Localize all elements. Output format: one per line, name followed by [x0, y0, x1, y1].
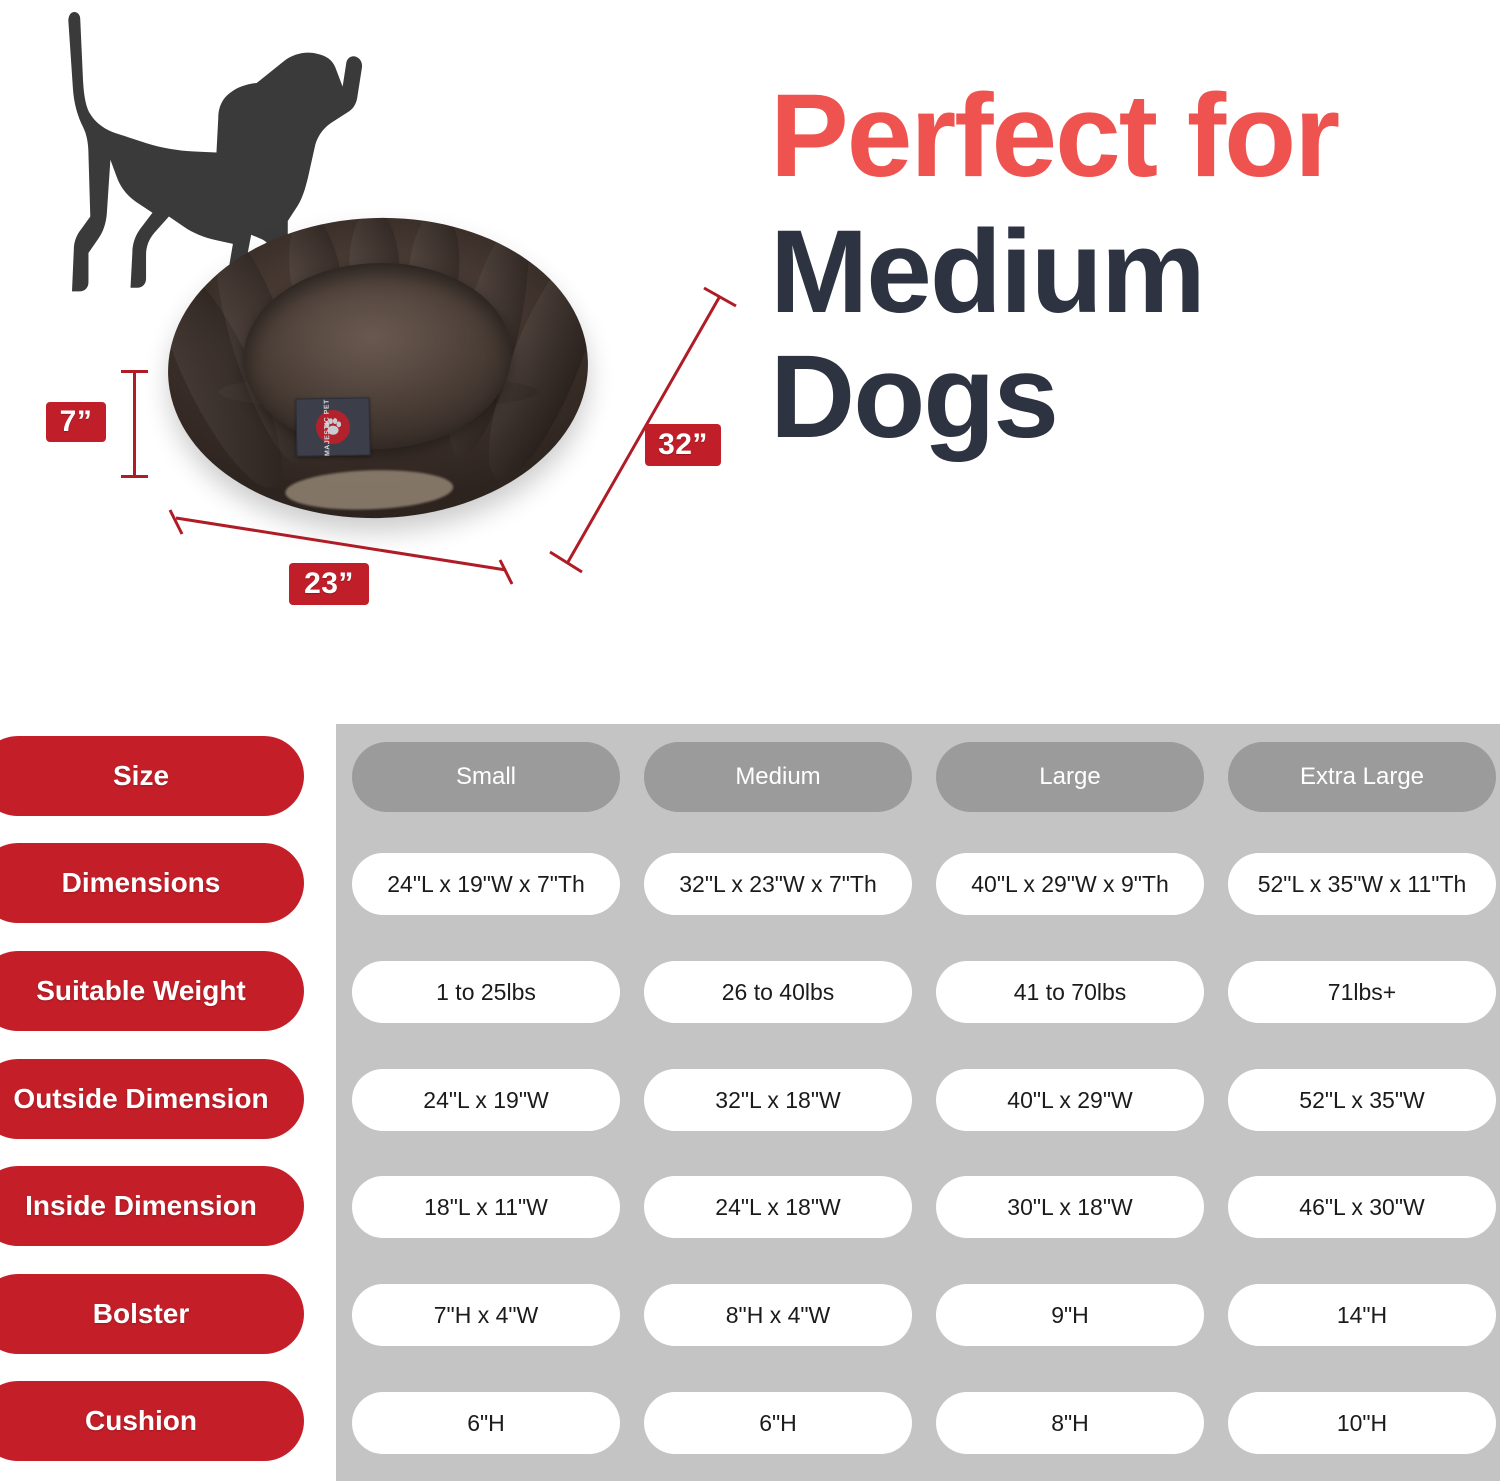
- spec-cell: 24"L x 19"W x 7"Th: [352, 853, 620, 915]
- dimension-badge-width: 23”: [289, 563, 369, 605]
- spec-cell: 52"L x 35"W x 11"Th: [1228, 853, 1496, 915]
- spec-cell: 40"L x 29"W x 9"Th: [936, 853, 1204, 915]
- spec-cell: 9"H: [936, 1284, 1204, 1346]
- spec-cell: 14"H: [1228, 1284, 1496, 1346]
- spec-cell: 1 to 25lbs: [352, 961, 620, 1023]
- spec-row-label-bolster: Bolster: [0, 1274, 304, 1354]
- headline-line-3: Dogs: [770, 343, 1490, 453]
- dimension-badge-height: 7”: [46, 402, 106, 442]
- spec-table-panel: SmallMediumLargeExtra Large24"L x 19"W x…: [336, 724, 1500, 1481]
- dimension-cap-height-top: [121, 370, 148, 373]
- dimension-line-height: [133, 370, 136, 478]
- spec-cell: 7"H x 4"W: [352, 1284, 620, 1346]
- brand-tag: MAJESTIC PET: [295, 397, 370, 456]
- spec-cell: 6"H: [644, 1392, 912, 1454]
- bed-underside: [285, 467, 454, 512]
- spec-column-header-medium: Medium: [644, 742, 912, 812]
- paw-print-icon: [316, 410, 351, 445]
- spec-row-label-cushion: Cushion: [0, 1381, 304, 1461]
- spec-cell: 8"H x 4"W: [644, 1284, 912, 1346]
- spec-cell: 10"H: [1228, 1392, 1496, 1454]
- spec-cell: 32"L x 23"W x 7"Th: [644, 853, 912, 915]
- spec-cell: 46"L x 30"W: [1228, 1176, 1496, 1238]
- headline-line-2: Medium: [770, 218, 1490, 328]
- spec-cell: 32"L x 18"W: [644, 1069, 912, 1131]
- headline-line-1: Perfect for: [770, 82, 1490, 192]
- spec-cell: 52"L x 35"W: [1228, 1069, 1496, 1131]
- spec-column-header-small: Small: [352, 742, 620, 812]
- spec-cell: 8"H: [936, 1392, 1204, 1454]
- spec-cell: 18"L x 11"W: [352, 1176, 620, 1238]
- spec-cell: 30"L x 18"W: [936, 1176, 1204, 1238]
- dimension-badge-depth: 32”: [645, 424, 721, 466]
- spec-column-header-extra-large: Extra Large: [1228, 742, 1496, 812]
- spec-cell: 24"L x 18"W: [644, 1176, 912, 1238]
- spec-row-label-dimensions: Dimensions: [0, 843, 304, 923]
- spec-column-header-large: Large: [936, 742, 1204, 812]
- spec-cell: 24"L x 19"W: [352, 1069, 620, 1131]
- brand-tag-label: MAJESTIC PET: [323, 399, 331, 456]
- spec-cell: 71lbs+: [1228, 961, 1496, 1023]
- spec-row-label-outside-dimension: Outside Dimension: [0, 1059, 304, 1139]
- hero-section: MAJESTIC PET 7” 23” 32” Perfect for Medi…: [0, 0, 1500, 700]
- spec-row-label-column: SizeDimensionsSuitable WeightOutside Dim…: [0, 724, 320, 1481]
- spec-row-label-suitable-weight: Suitable Weight: [0, 951, 304, 1031]
- spec-cell: 40"L x 29"W: [936, 1069, 1204, 1131]
- spec-cell: 41 to 70lbs: [936, 961, 1204, 1023]
- spec-cell: 6"H: [352, 1392, 620, 1454]
- spec-cell: 26 to 40lbs: [644, 961, 912, 1023]
- spec-row-label-size: Size: [0, 736, 304, 816]
- dimension-cap-height-bottom: [121, 475, 148, 478]
- page-headline: Perfect for Medium Dogs: [770, 82, 1490, 453]
- spec-row-label-inside-dimension: Inside Dimension: [0, 1166, 304, 1246]
